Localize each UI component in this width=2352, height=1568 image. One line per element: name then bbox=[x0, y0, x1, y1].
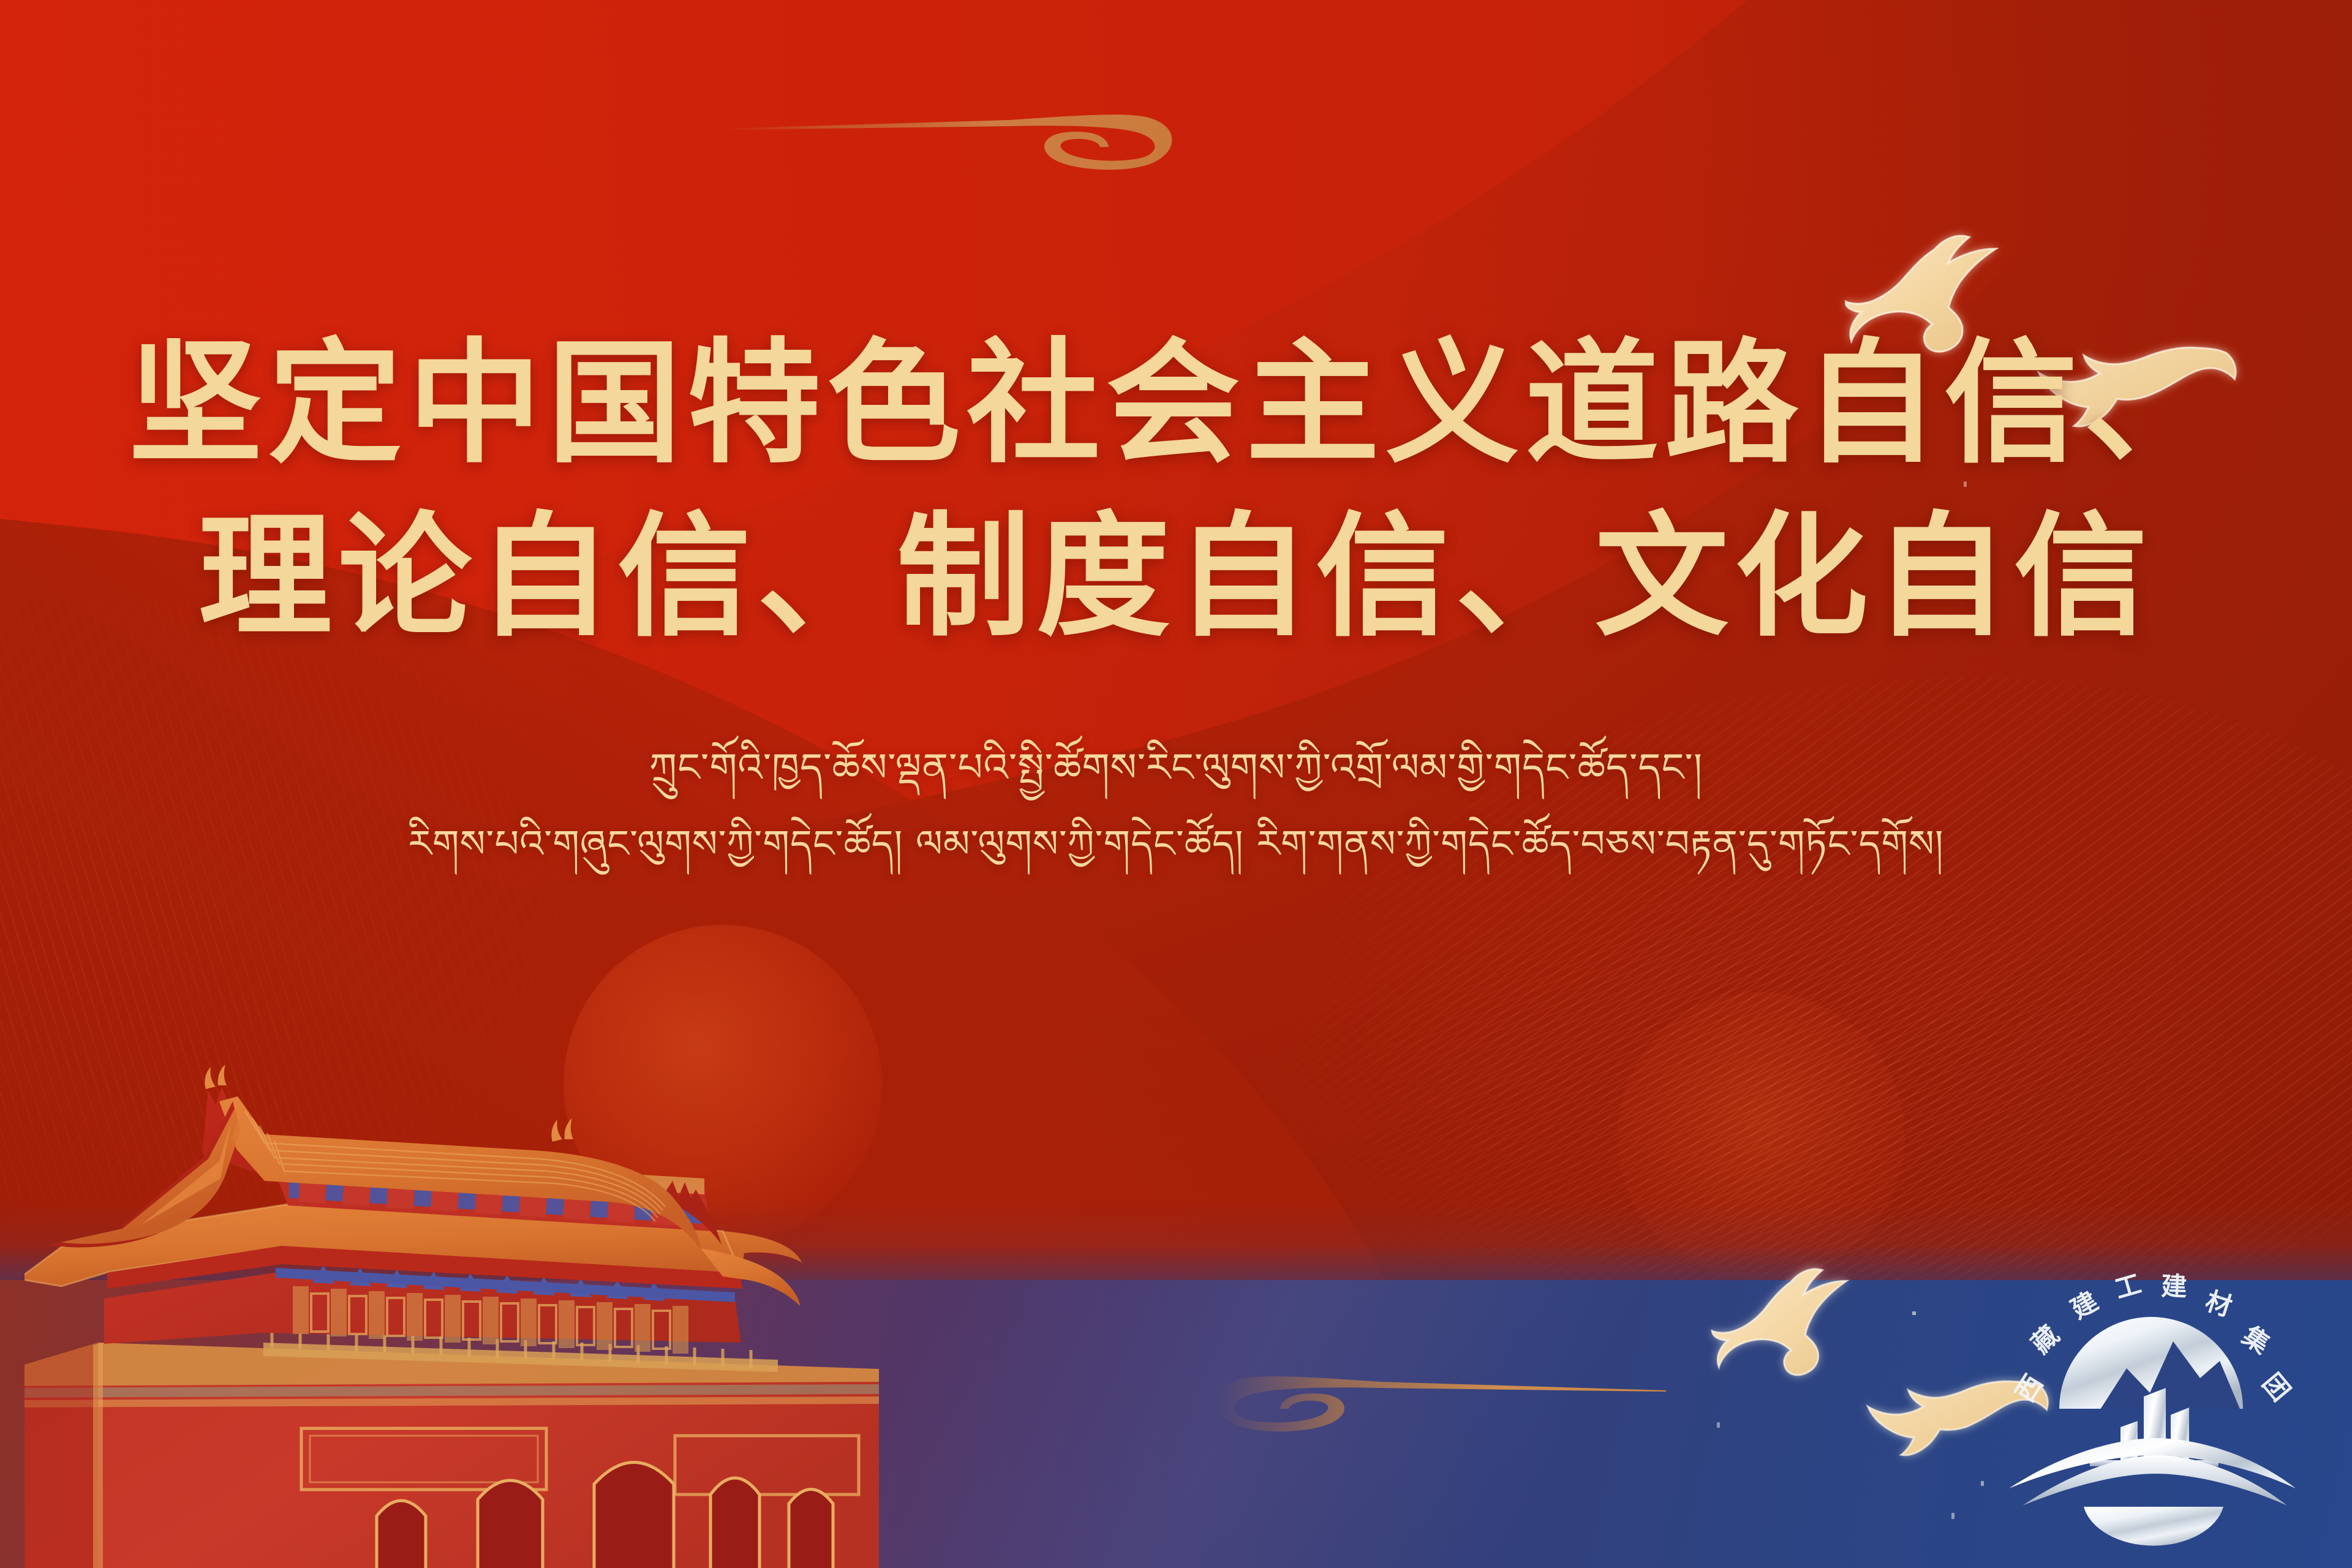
tibetan-line-1: ཀྲུང་གོའི་ཁྱད་ཆོས་ལྡན་པའི་སྤྱི་ཚོགས་རིང་… bbox=[0, 738, 2352, 799]
auspicious-cloud-icon-top bbox=[723, 92, 1188, 190]
tiananmen-gate-illustration bbox=[24, 1029, 900, 1568]
auspicious-cloud-icon-bottom bbox=[1200, 1354, 1666, 1458]
svg-text:建: 建 bbox=[2161, 1272, 2188, 1302]
svg-text:团: 团 bbox=[2256, 1369, 2294, 1407]
speck-dot bbox=[1717, 1422, 1720, 1428]
svg-text:藏: 藏 bbox=[2026, 1321, 2065, 1359]
tibet-construction-group-logo: 西 藏 建 工 建 材 集 团 bbox=[1998, 1263, 2304, 1551]
headline-line-2: 理论自信、制度自信、文化自信 bbox=[0, 492, 2352, 665]
tibetan-line-2: རིགས་པའི་གཞུང་ལུགས་ཀྱི་གདེང་ཚོད། ལམ་ལུགས… bbox=[0, 815, 2352, 873]
text-block: 坚定中国特色社会主义道路自信、 理论自信、制度自信、文化自信 ཀྲུང་གོའི… bbox=[0, 318, 2352, 873]
svg-text:工: 工 bbox=[2112, 1270, 2144, 1305]
svg-text:西: 西 bbox=[2011, 1370, 2048, 1407]
svg-text:材: 材 bbox=[2202, 1287, 2235, 1322]
speck-dot bbox=[1912, 1311, 1916, 1315]
headline-line-1: 坚定中国特色社会主义道路自信、 bbox=[0, 318, 2352, 492]
svg-text:集: 集 bbox=[2237, 1321, 2275, 1360]
tibetan-block: ཀྲུང་གོའི་ཁྱད་ཆོས་ལྡན་པའི་སྤྱི་ཚོགས་རིང་… bbox=[0, 738, 2352, 873]
speck-dot bbox=[1951, 1513, 1954, 1519]
svg-text:建: 建 bbox=[2067, 1287, 2103, 1325]
poster-canvas: 坚定中国特色社会主义道路自信、 理论自信、制度自信、文化自信 ཀྲུང་གོའི… bbox=[0, 0, 2352, 1568]
